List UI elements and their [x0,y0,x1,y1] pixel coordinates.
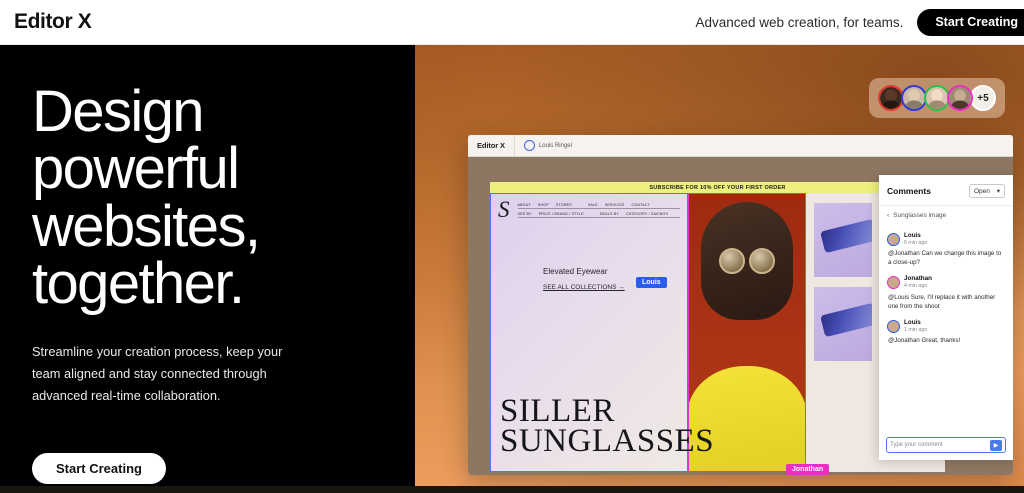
nav-item[interactable]: SALE [588,203,598,207]
comment-meta: Louis 1 min ago [887,319,1005,333]
editor-user-name: Louis Ringel [539,143,572,149]
sunglasses-thumb-graphic [820,303,872,337]
avatar-overflow-count[interactable]: +5 [970,85,996,111]
nav-row-primary: ABOUT SHOP STORES SALE SERVICES CONTACT [518,203,681,209]
design-canvas[interactable]: SUBSCRIBE FOR 10% OFF YOUR FIRST ORDER S [490,182,945,472]
sunglasses-thumb-graphic [820,219,872,253]
see-all-collections-link[interactable]: SEE ALL COLLECTIONS → [543,284,625,291]
page-root: Editor X Advanced web creation, for team… [0,0,1024,493]
comments-breadcrumb[interactable]: ‹ Sunglasses image [879,205,1013,225]
editor-logo[interactable]: Editor X [468,135,515,156]
header-right-group: Advanced web creation, for teams. Start … [695,0,1024,44]
comment-author: Jonathan [904,275,932,283]
bottom-strip [0,486,1024,493]
nav-item[interactable]: STORES [556,203,572,207]
nav-group-4: DEALS BY CATEGORY / SAVINGS [600,212,668,216]
nav-group-1: ABOUT SHOP STORES [518,203,572,207]
avatar[interactable] [947,85,973,111]
comment-item[interactable]: Louis 1 min ago @Jonathan Great, thanks! [887,319,1005,346]
comment-author: Louis [904,232,927,240]
send-icon[interactable]: ▶ [990,440,1002,451]
hero-left-panel: Design powerful websites, together. Stre… [0,45,415,486]
hero-title-design: SILLER SUNGLASSES [500,396,714,457]
comments-panel: Comments Open ▾ ‹ Sunglasses image [879,175,1013,460]
lens-left [719,248,745,274]
hero-title-line-2: SUNGLASSES [500,426,714,457]
avatar-photo-3 [926,87,948,109]
hero-start-creating-button[interactable]: Start Creating [32,453,166,484]
avatar-photo-2 [903,87,925,109]
site-logo-mark: S [498,198,510,221]
comments-header: Comments Open ▾ [879,175,1013,205]
collab-cursor-tag-louis: Louis [636,277,667,288]
comment-avatar [887,233,900,246]
lens-right [749,248,775,274]
collaborator-avatar-stack[interactable]: +5 [869,78,1005,118]
brand-logo[interactable]: Editor X [14,10,91,34]
comments-list: Louis 6 min ago @Jonathan Can we change … [879,225,1013,430]
comment-compose-area: Type your comment ▶ [879,430,1013,460]
comment-input-placeholder: Type your comment [890,442,987,448]
promo-banner: SUBSCRIBE FOR 10% OFF YOUR FIRST ORDER [490,182,945,193]
comment-timestamp: 6 min ago [904,240,927,247]
avatar-photo-4 [949,87,971,109]
sunglasses-graphic [719,248,775,274]
comment-avatar [887,320,900,333]
nav-group-3: SEE BY PRICE / BRAND / STYLE [518,212,584,216]
comment-body: @Jonathan Can we change this image to a … [888,250,1005,268]
header-start-creating-button[interactable]: Start Creating [917,9,1024,36]
nav-item[interactable]: SERVICES [605,203,625,207]
comment-body: @Louis Sure, I'll replace it with anothe… [888,294,1005,312]
hero-title-line-1: SILLER [500,396,714,427]
nav-item[interactable]: SEE BY [518,212,532,216]
canvas-grid: S ABOUT SHOP STORES [490,193,945,472]
hero-right-panel: +5 Editor X Louis Ringel SUBSCRIBE FOR 1… [415,45,1024,486]
nav-item[interactable]: SHOP [538,203,549,207]
selection-handle[interactable] [490,312,491,328]
nav-item[interactable]: ABOUT [518,203,531,207]
nav-item[interactable]: CATEGORY / SAVINGS [626,212,668,216]
comments-filter-select[interactable]: Open ▾ [969,184,1005,198]
comment-item[interactable]: Jonathan 4 min ago @Louis Sure, I'll rep… [887,275,1005,311]
comment-body: @Jonathan Great, thanks! [888,337,1005,346]
editor-current-user[interactable]: Louis Ringel [515,140,572,151]
product-thumbnail[interactable] [814,203,872,277]
comment-author: Louis [904,319,927,327]
hero-subcopy: Streamline your creation process, keep y… [32,341,310,407]
product-thumbnail[interactable] [814,287,872,361]
editor-window-mockup: Editor X Louis Ringel SUBSCRIBE FOR 10% … [468,135,1013,475]
site-header: Editor X Advanced web creation, for team… [0,0,1024,45]
canvas-left-section[interactable]: S ABOUT SHOP STORES [490,193,688,472]
nav-group-2: SALE SERVICES CONTACT [588,203,650,207]
header-tagline: Advanced web creation, for teams. [695,15,903,30]
chevron-down-icon: ▾ [997,187,1000,195]
comments-title: Comments [887,186,931,196]
eyebrow-text: Elevated Eyewear [543,267,687,276]
comment-meta: Louis 6 min ago [887,232,1005,246]
comments-breadcrumb-label: Sunglasses image [893,212,946,219]
editor-topbar: Editor X Louis Ringel [468,135,1013,157]
nav-row-secondary: SEE BY PRICE / BRAND / STYLE DEALS BY CA… [518,212,681,218]
collab-cursor-tag-jonathan: Jonathan [786,464,829,475]
comment-avatar [887,276,900,289]
avatar-photo-1 [880,87,902,109]
nav-item[interactable]: CONTACT [632,203,651,207]
site-nav-columns: ABOUT SHOP STORES SALE SERVICES CONTACT [518,200,681,218]
comment-timestamp: 4 min ago [904,283,932,290]
site-nav-row: S ABOUT SHOP STORES [491,194,687,221]
comment-meta: Jonathan 4 min ago [887,275,1005,289]
editor-user-avatar [524,140,535,151]
nav-item[interactable]: PRICE / BRAND / STYLE [539,212,584,216]
comments-filter-value: Open [974,188,990,195]
comment-input[interactable]: Type your comment ▶ [886,437,1006,453]
chevron-left-icon: ‹ [887,212,889,219]
nav-item[interactable]: DEALS BY [600,212,619,216]
hero-headline: Design powerful websites, together. [32,83,372,313]
editor-body: SUBSCRIBE FOR 10% OFF YOUR FIRST ORDER S [468,157,1013,475]
comment-item[interactable]: Louis 6 min ago @Jonathan Can we change … [887,232,1005,268]
comment-timestamp: 1 min ago [904,327,927,334]
